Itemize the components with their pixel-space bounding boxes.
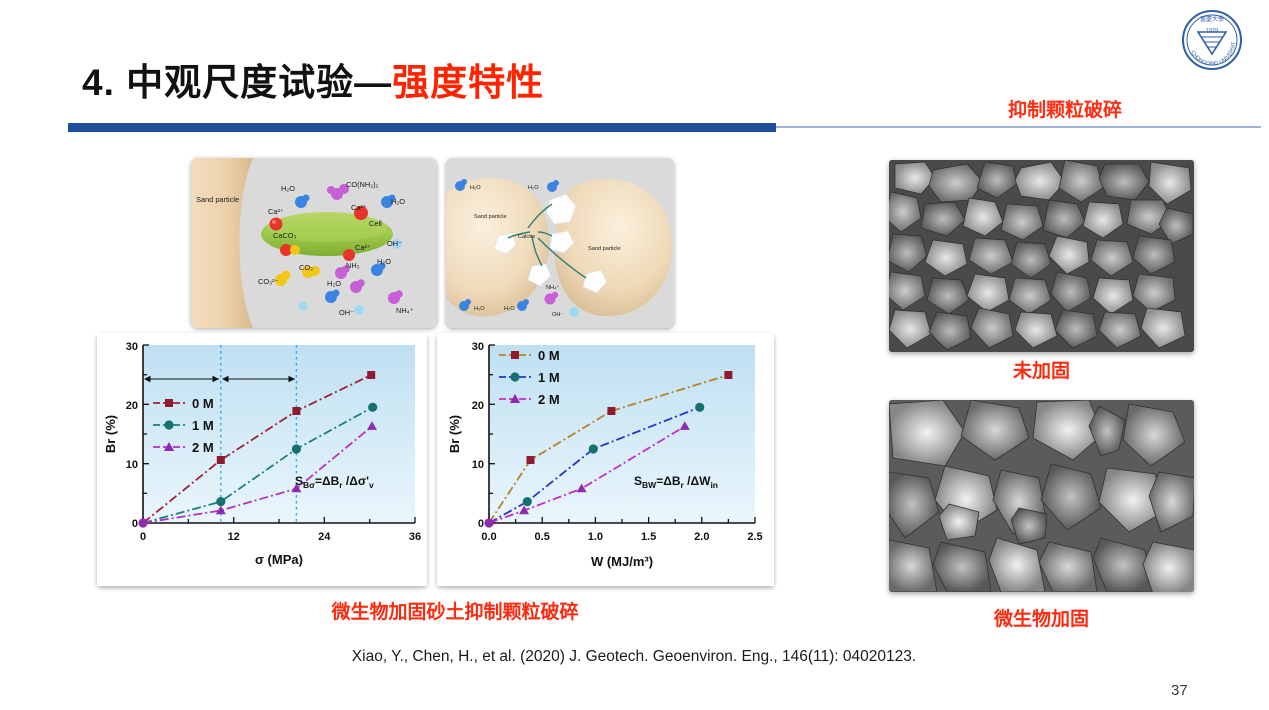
svg-text:Sand particle: Sand particle xyxy=(196,195,239,204)
page-title-main: 4. 中观尺度试验— xyxy=(82,62,392,103)
legend-label-1m: 1 M xyxy=(192,418,214,433)
svg-text:H₂O: H₂O xyxy=(377,257,391,266)
svg-text:CO₂: CO₂ xyxy=(299,263,313,272)
y-tick-20: 20 xyxy=(126,400,138,412)
svg-text:CaCO₃: CaCO₃ xyxy=(273,231,297,240)
svg-text:CO₃²⁻: CO₃²⁻ xyxy=(258,277,279,286)
y-axis-title: Br (%) xyxy=(447,415,462,453)
x-tick-0: 0 xyxy=(140,531,146,543)
legend-label-2m: 2 M xyxy=(192,440,214,455)
sem-image-micp-treated xyxy=(889,400,1194,592)
svg-text:Sand particle: Sand particle xyxy=(474,214,507,220)
micp-cell-diagram: Sand particle H₂O CO(NH₂)₂ Ca²⁺ Ca²⁺ Cel… xyxy=(191,158,437,328)
svg-text:H₂O: H₂O xyxy=(391,197,405,206)
svg-text:OH⁻: OH⁻ xyxy=(552,312,563,318)
page-number: 37 xyxy=(1171,682,1188,699)
page-title: 4. 中观尺度试验—强度特性 xyxy=(82,52,544,106)
svg-text:Sand particle: Sand particle xyxy=(588,246,621,252)
y-axis-title: Br (%) xyxy=(103,415,118,453)
micp-calcite-diagram: H₂O H₂O Sand particle Calcite Sand parti… xyxy=(446,158,674,328)
x-tick-15: 1.5 xyxy=(641,531,656,543)
title-underline-bar xyxy=(68,123,776,132)
citation-text: Xiao, Y., Chen, H., et al. (2020) J. Geo… xyxy=(352,648,916,666)
chongqing-university-logo: 1929 重慶大學 CHONGQING UNIVERSITY xyxy=(1176,8,1248,72)
y-tick-10: 10 xyxy=(472,459,484,471)
y-tick-0: 0 xyxy=(478,518,484,530)
right-header-label: 抑制颗粒破碎 xyxy=(1008,95,1122,122)
chart-left-stress: 0 10 20 30 0 12 24 36 σ (MPa) Br (%) xyxy=(97,333,427,586)
sem-caption-micp-treated: 微生物加固 xyxy=(889,604,1194,631)
page-title-accent: 强度特性 xyxy=(392,62,544,103)
svg-text:Ca²⁺: Ca²⁺ xyxy=(268,207,284,216)
svg-text:H₂O: H₂O xyxy=(528,185,539,191)
svg-text:H₂O: H₂O xyxy=(327,279,341,288)
y-tick-20: 20 xyxy=(472,400,484,412)
y-tick-30: 30 xyxy=(126,341,138,353)
x-tick-10: 1.0 xyxy=(588,531,603,543)
title-underline-thin xyxy=(776,126,1261,128)
y-tick-0: 0 xyxy=(132,518,138,530)
x-axis-title: σ (MPa) xyxy=(255,552,303,567)
svg-text:OH⁻: OH⁻ xyxy=(387,239,402,248)
svg-text:H₂O: H₂O xyxy=(504,306,515,312)
chart-right-energy: 0 10 20 30 0.0 0.5 1.0 1.5 2.0 2.5 W (MJ… xyxy=(437,333,774,586)
x-tick-00: 0.0 xyxy=(481,531,496,543)
svg-text:NH₄⁺: NH₄⁺ xyxy=(396,306,414,315)
sem-caption-untreated: 未加固 xyxy=(889,356,1194,383)
x-axis-title: W (MJ/m³) xyxy=(591,554,653,569)
micp-diagram-group: Sand particle H₂O CO(NH₂)₂ Ca²⁺ Ca²⁺ Cel… xyxy=(191,158,674,328)
legend-label-2m: 2 M xyxy=(538,392,560,407)
svg-text:CO(NH₂)₂: CO(NH₂)₂ xyxy=(346,180,379,189)
svg-text:NH₄⁺: NH₄⁺ xyxy=(546,284,559,291)
legend-label-0m: 0 M xyxy=(192,396,214,411)
svg-text:Ca²⁺: Ca²⁺ xyxy=(355,243,371,252)
x-tick-36: 36 xyxy=(409,531,421,543)
svg-text:1929: 1929 xyxy=(1206,28,1218,34)
svg-text:H₂O: H₂O xyxy=(474,306,485,312)
x-tick-20: 2.0 xyxy=(694,531,709,543)
svg-text:H₂O: H₂O xyxy=(281,184,295,193)
svg-text:Cell: Cell xyxy=(369,219,382,228)
slide-root: 1929 重慶大學 CHONGQING UNIVERSITY 4. 中观尺度试验… xyxy=(0,0,1269,710)
svg-text:NH₃: NH₃ xyxy=(346,261,360,270)
legend-label-0m: 0 M xyxy=(538,348,560,363)
x-tick-12: 12 xyxy=(228,531,240,543)
charts-caption: 微生物加固砂土抑制颗粒破碎 xyxy=(331,597,578,624)
x-tick-24: 24 xyxy=(318,531,331,543)
svg-text:Ca²⁺: Ca²⁺ xyxy=(351,203,367,212)
svg-text:重慶大學: 重慶大學 xyxy=(1200,15,1224,23)
sem-image-untreated xyxy=(889,160,1194,352)
svg-text:Calcite: Calcite xyxy=(518,234,535,240)
x-tick-05: 0.5 xyxy=(535,531,550,543)
svg-text:OH⁻: OH⁻ xyxy=(339,308,354,317)
y-tick-30: 30 xyxy=(472,341,484,353)
svg-text:H₂O: H₂O xyxy=(470,185,481,191)
legend-label-1m: 1 M xyxy=(538,370,560,385)
x-tick-25: 2.5 xyxy=(747,531,762,543)
y-tick-10: 10 xyxy=(126,459,138,471)
